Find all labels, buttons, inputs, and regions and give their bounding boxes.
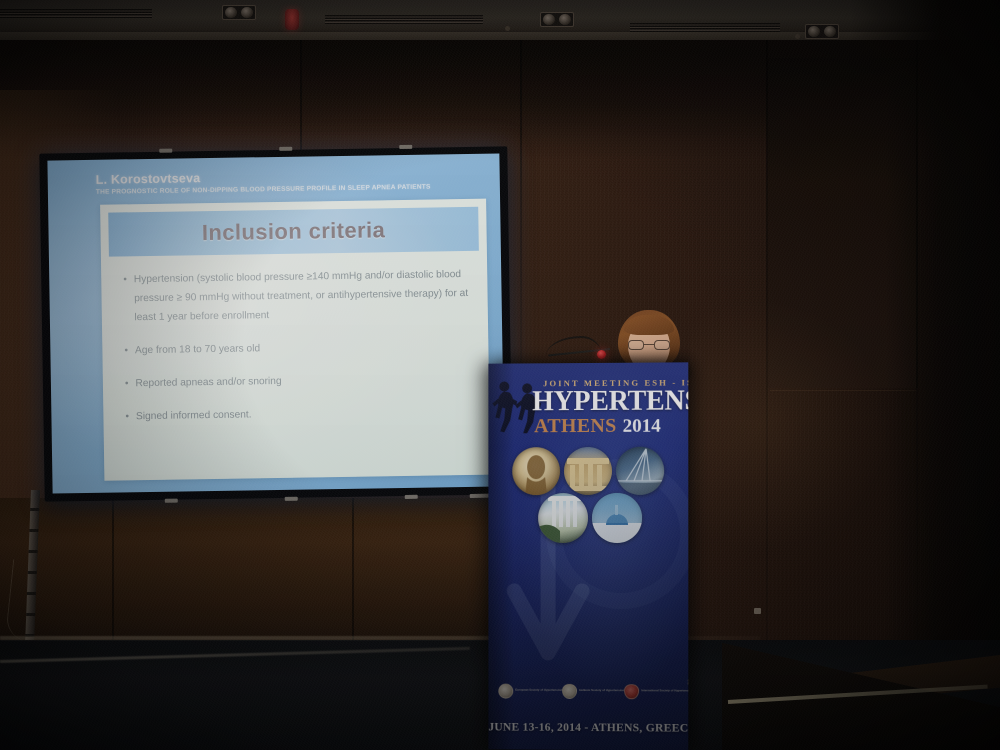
slide-bullet-item: • Age from 18 to 70 years old [124,336,470,360]
glasses-lens-left [628,340,644,350]
ish-red-heart-icon [624,684,639,699]
banner-main-title: HYPERTENSION [532,385,688,418]
slide-bullet-list: • Hypertension (systolic blood pressure … [123,265,472,440]
hellenic-heart-icon [562,683,577,698]
parthenon-columns-photo [564,447,612,495]
logo-ish-label: International Society of Hypertension [641,689,688,693]
red-emergency-light [285,9,299,30]
dado-seam [112,498,114,646]
recessed-spotlight-pair [540,12,574,27]
slide-bullet-text: Hypertension (systolic blood pressure ≥1… [134,265,470,327]
presentation-slide: L. Korostovtseva THE PROGNOSTIC ROLE OF … [47,153,504,493]
recessed-spotlight-pair [222,5,256,20]
screen-mount-clip [470,494,490,498]
banner-photo-medallions [502,447,676,557]
glasses-lens-right [654,340,670,350]
slide-content-panel: Inclusion criteria • Hypertension (systo… [100,199,490,481]
wall-seam [520,40,522,370]
podium-banner: JOINT MEETING ESH - ISH HYPERTENSION ATH… [488,362,688,750]
ceiling-sensor-icon [795,34,800,39]
screen-mount-clip [405,495,418,499]
slide-presenter-name: L. Korostovtseva [96,171,201,187]
logo-esh-label: European Society of Hypertension [515,689,562,693]
slide-bullet-item: • Reported apneas and/or snoring [125,369,471,393]
screen-mount-clip [399,145,412,149]
wood-dado-panel [0,498,520,646]
wall-glow-behind-podium [690,300,890,550]
screen-mount-clip [159,149,172,153]
slide-title-band: Inclusion criteria [108,207,479,257]
esh-seal-icon [498,683,513,698]
modern-bridge-photo [616,447,664,495]
screen-mount-clip [165,499,178,503]
slide-bullet-item: • Hypertension (systolic blood pressure … [123,265,470,327]
screen-mount-clip [279,147,292,151]
banner-city-year-row: ATHENS 2014 [534,415,661,439]
speaker-hair-fringe [624,315,674,335]
ceiling-air-vent [630,23,780,32]
speaker-glasses-icon [628,340,670,350]
auditorium-photo: L. Korostovtseva THE PROGNOSTIC ROLE OF … [0,0,1000,750]
slide-heading: Inclusion criteria [202,217,386,246]
slide-bullet-text: Reported apneas and/or snoring [135,369,471,393]
wall-shadow-right [885,40,1000,700]
microphone-led-icon [597,350,606,359]
screen-mount-clip [285,497,298,501]
bullet-marker-icon: • [125,374,129,393]
bullet-marker-icon: • [124,341,128,360]
slide-bullet-text: Signed informed consent. [136,402,472,426]
ceiling-air-vent [0,9,152,18]
bullet-marker-icon: • [123,270,127,327]
logo-hellenic-label: Hellenic Society of Hypertension [579,689,624,693]
ceiling-sensor-icon [505,26,510,31]
bullet-marker-icon: • [125,407,129,426]
recessed-spotlight-pair [805,24,839,39]
white-colonnade-building-photo [538,493,588,543]
slide-bullet-text: Age from 18 to 70 years old [135,336,471,360]
logo-ish: International Society of Hypertension [624,684,688,699]
glasses-bridge [644,344,654,345]
santorini-blue-dome-church-photo [592,493,642,543]
ceiling-air-vent [325,15,483,24]
slide-bullet-item: • Signed informed consent. [125,402,471,426]
banner-headline-block: JOINT MEETING ESH - ISH HYPERTENSION ATH… [488,368,688,441]
banner-city: ATHENS [534,415,616,438]
banner-year: 2014 [623,416,661,438]
dado-seam [352,498,354,646]
logo-organised-by-caption: ORGANISED BY [687,679,688,685]
banner-society-logos: European Society of Hypertension Helleni… [498,676,680,707]
logo-hellenic: Hellenic Society of Hypertension [562,683,624,698]
banner-date-location: JUNE 13-16, 2014 - ATHENS, GREECE [488,720,688,734]
projection-screen: L. Korostovtseva THE PROGNOSTIC ROLE OF … [39,146,512,501]
logo-esh: European Society of Hypertension [498,683,562,698]
bronze-statue-head-photo [512,447,560,495]
ramp-clip-icon [754,608,761,614]
